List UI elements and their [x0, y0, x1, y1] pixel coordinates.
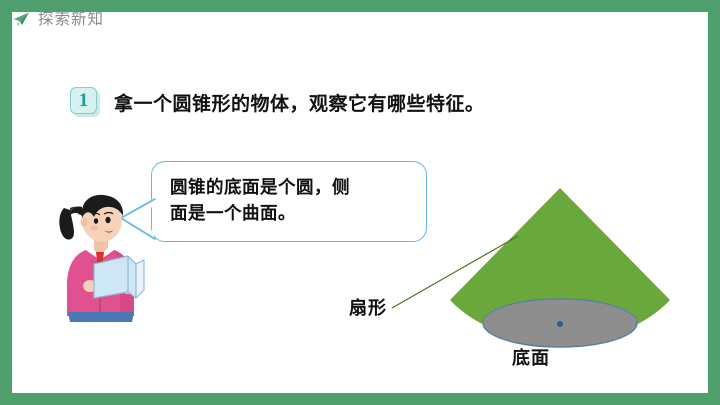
jeans — [68, 312, 134, 322]
step-number-badge: 1 — [70, 87, 100, 117]
girl-student-illustration — [56, 186, 160, 322]
header-title: 探索新知 — [38, 12, 104, 28]
eye-left — [94, 218, 98, 224]
badge-face: 1 — [70, 87, 97, 114]
speech-line-2: 面是一个曲面。 — [170, 201, 412, 227]
speech-bubble-text: 圆锥的底面是个圆，侧 面是一个曲面。 — [170, 175, 412, 228]
speech-line-1: 圆锥的底面是个圆，侧 — [170, 175, 412, 201]
slide-root: 探索新知 1 拿一个圆锥形的物体，观察它有哪些特征。 圆锥的底面是个圆，侧 面是… — [0, 0, 720, 405]
step-number-label: 1 — [79, 91, 89, 110]
slide-header: 探索新知 — [12, 10, 104, 29]
instruction-text: 拿一个圆锥形的物体，观察它有哪些特征。 — [114, 89, 485, 116]
instruction-row: 1 拿一个圆锥形的物体，观察它有哪些特征。 — [70, 87, 485, 117]
label-base: 底面 — [512, 344, 550, 370]
speech-bubble: 圆锥的底面是个圆，侧 面是一个曲面。 — [151, 161, 427, 242]
base-center-dot — [557, 321, 563, 327]
book — [94, 256, 144, 298]
eye-right — [105, 217, 110, 223]
label-sector: 扇形 — [349, 294, 387, 320]
paper-plane-icon — [12, 10, 31, 29]
sector-leader-line — [390, 230, 550, 310]
